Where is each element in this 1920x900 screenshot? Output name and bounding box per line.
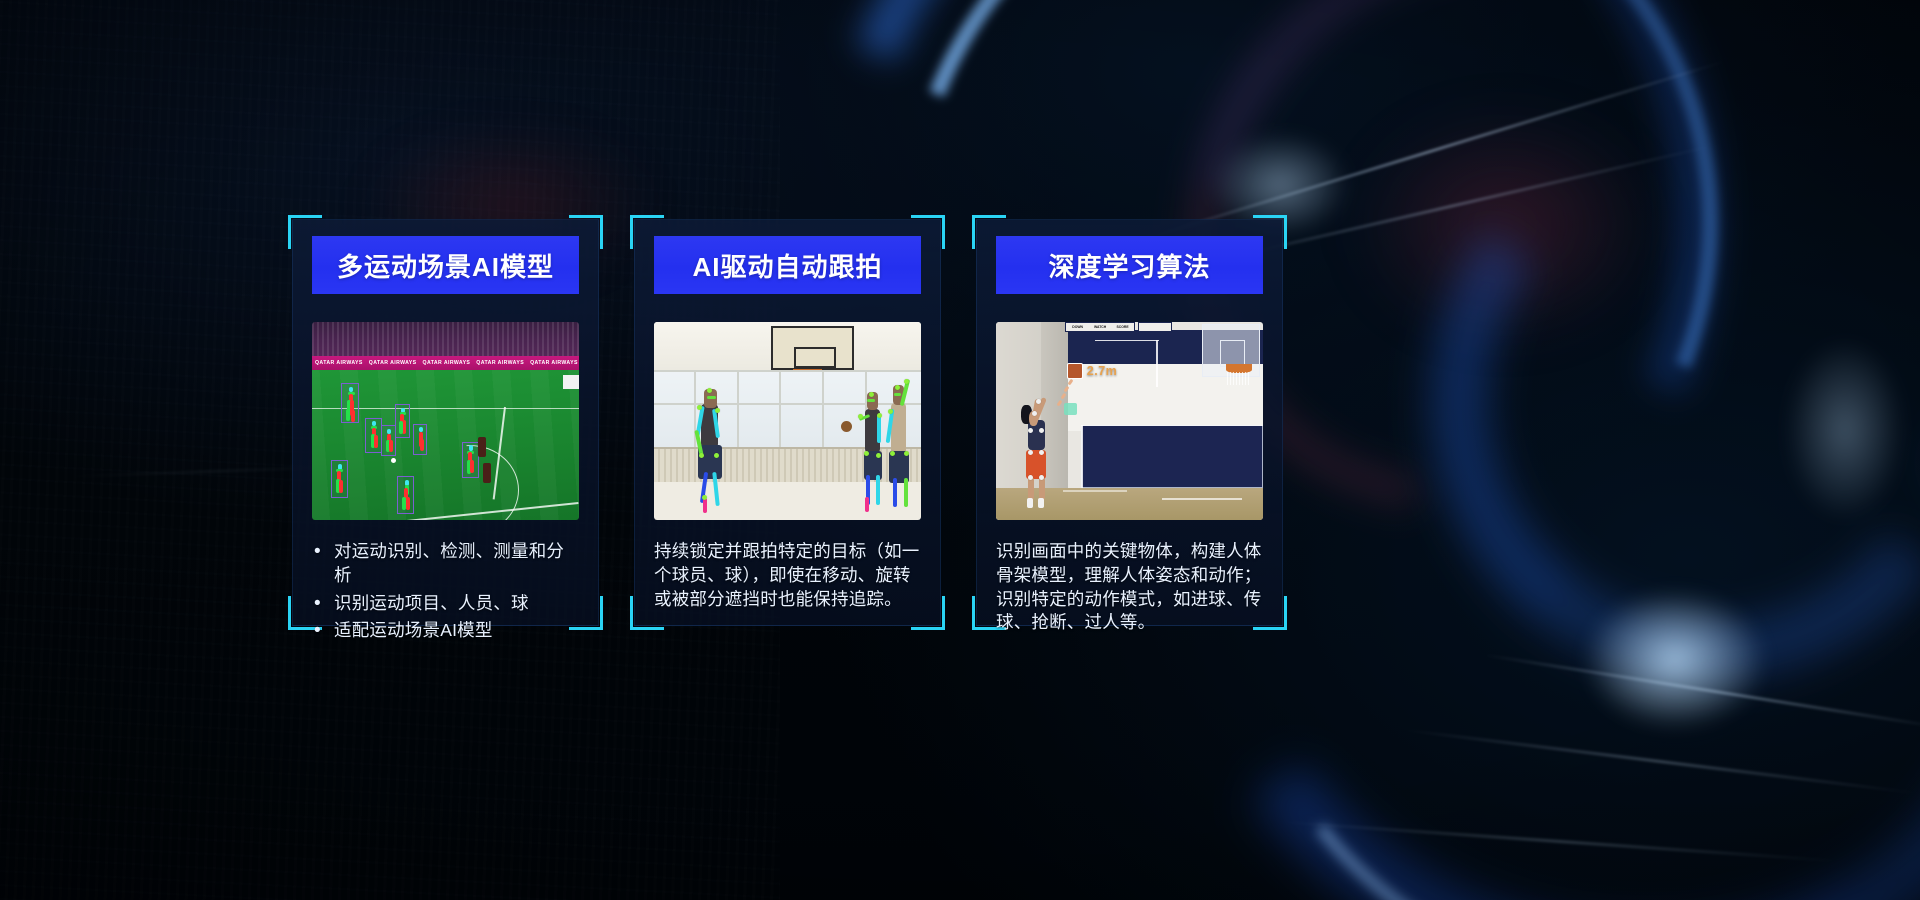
measure-guide-line (1156, 340, 1158, 388)
measure-guide-line (1081, 425, 1083, 488)
sponsor-text: QATAR AIRWAYS (527, 360, 579, 366)
card-title-banner: 深度学习算法 (996, 236, 1263, 294)
measure-guide-line (1063, 490, 1127, 492)
soccer-ball (391, 458, 396, 463)
sponsor-text: QATAR AIRWAYS (420, 360, 474, 366)
card-title-banner: AI驱动自动跟拍 (654, 236, 921, 294)
feature-card-deep-learning-algorithm[interactable]: 深度学习算法 DOWN WATCH SCORE (972, 215, 1287, 630)
basketball (841, 421, 852, 432)
court-line (1162, 498, 1242, 500)
measurement-label: 2.7m (1087, 364, 1118, 378)
player-shoe (1038, 498, 1044, 508)
pitch-line (350, 502, 579, 520)
feature-description: 识别画面中的关键物体，构建人体骨架模型，理解人体姿态和动作；识别特定的动作模式，… (996, 540, 1263, 635)
player-pose-right (878, 379, 921, 512)
pose-skeleton (401, 480, 411, 510)
card-title: 深度学习算法 (1048, 247, 1210, 284)
object-detection-box (1064, 403, 1077, 415)
sponsor-text: QATAR AIRWAYS (312, 360, 366, 366)
soccer-detection-thumbnail: QATAR AIRWAYS QATAR AIRWAYS QATAR AIRWAY… (312, 322, 579, 520)
pose-skeleton (384, 429, 393, 453)
list-item: 对运动识别、检测、测量和分析 (312, 540, 579, 588)
pose-skeleton (416, 427, 424, 451)
scoreboard: DOWN WATCH SCORE (1065, 322, 1134, 332)
sponsor-text: QATAR AIRWAYS (366, 360, 420, 366)
card-body: AI驱动自动跟拍 (634, 219, 941, 626)
scoreboard-secondary (1138, 322, 1173, 332)
detection-box (397, 476, 414, 514)
detection-box (341, 383, 359, 423)
sponsor-banner: QATAR AIRWAYS QATAR AIRWAYS QATAR AIRWAY… (312, 356, 579, 371)
pose-skeleton (398, 408, 407, 435)
player-undetected (483, 463, 491, 483)
detection-box (462, 442, 479, 478)
card-title-banner: 多运动场景AI模型 (312, 236, 579, 294)
ball-detection-box (1067, 363, 1083, 379)
pose-skeleton (465, 445, 475, 474)
player-pose-left (681, 385, 740, 516)
sponsor-text: QATAR AIRWAYS (473, 360, 527, 366)
feature-card-ai-auto-tracking[interactable]: AI驱动自动跟拍 (630, 215, 945, 630)
detection-box (331, 460, 348, 498)
detection-box (413, 424, 427, 455)
feature-bullet-list: 对运动识别、检测、测量和分析 识别运动项目、人员、球 适配运动场景AI模型 (312, 540, 579, 647)
player-undetected (478, 437, 486, 457)
advert-board (563, 375, 579, 389)
basketball-backboard (771, 326, 854, 370)
pose-skeleton (345, 387, 356, 419)
feature-card-multi-sport-ai-model[interactable]: 多运动场景AI模型 QATAR AIRWAYS QATAR AIRWAYS QA… (288, 215, 603, 630)
soccer-pitch (312, 370, 579, 520)
scoreboard-label: SCORE (1111, 325, 1133, 329)
player-pose-shooter (1015, 405, 1058, 508)
pose-skeleton (369, 421, 379, 449)
card-title: 多运动场景AI模型 (337, 247, 554, 284)
feature-cards-row: 多运动场景AI模型 QATAR AIRWAYS QATAR AIRWAYS QA… (288, 215, 1288, 630)
feature-description: 持续锁定并跟拍特定的目标（如一个球员、球），即使在移动、旋转或被部分遮挡时也能保… (654, 540, 921, 611)
gym-pose-tracking-thumbnail (654, 322, 921, 520)
measure-guide-line (1095, 340, 1159, 342)
measure-guide-line (1081, 425, 1263, 427)
card-body: 多运动场景AI模型 QATAR AIRWAYS QATAR AIRWAYS QA… (292, 219, 599, 626)
card-title: AI驱动自动跟拍 (692, 247, 882, 284)
pose-skeleton (334, 464, 344, 494)
scoreboard-label: WATCH (1089, 325, 1111, 329)
player-shoe (1027, 498, 1033, 508)
list-item: 识别运动项目、人员、球 (312, 592, 579, 616)
list-item: 适配运动场景AI模型 (312, 619, 579, 643)
scoreboard-label: DOWN (1066, 325, 1088, 329)
player-leg (1039, 477, 1045, 500)
detection-box (381, 425, 396, 456)
card-body: 深度学习算法 DOWN WATCH SCORE (976, 219, 1283, 626)
gym-wall-padding (1081, 425, 1263, 488)
detection-box (365, 418, 382, 453)
shot-height-measure-thumbnail: DOWN WATCH SCORE 2.7m (996, 322, 1263, 520)
basketball-net (1227, 372, 1251, 386)
player-leg (1028, 477, 1034, 500)
detection-box (395, 404, 410, 438)
